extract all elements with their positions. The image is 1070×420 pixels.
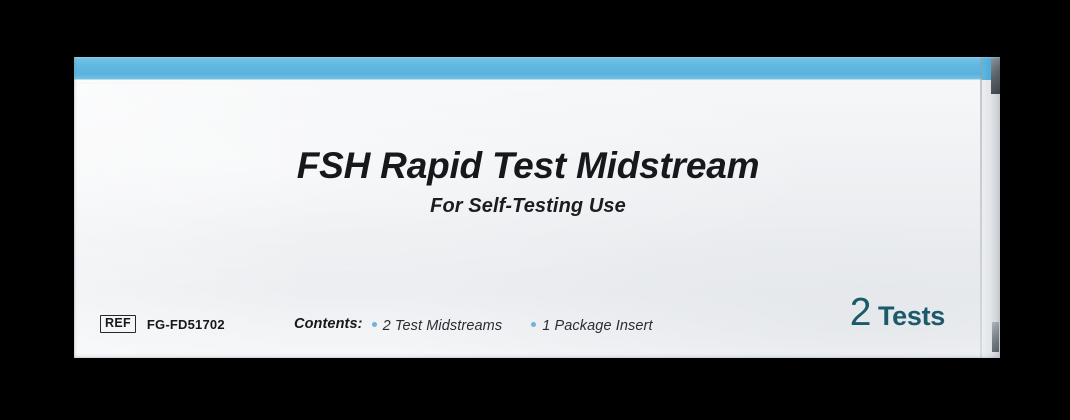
title-block: FSH Rapid Test Midstream For Self-Testin… — [74, 147, 982, 218]
tests-count-badge: 2 Tests — [850, 293, 945, 332]
product-title: FSH Rapid Test Midstream — [74, 147, 982, 186]
contents-item: 1 Package Insert — [531, 318, 652, 334]
tests-count-word: Tests — [878, 303, 945, 330]
tests-count-number: 2 — [850, 293, 871, 332]
stripe-hairline — [74, 82, 982, 84]
reference-group: REF FG-FD51702 — [100, 315, 225, 333]
package-bottom-row: REF FG-FD51702 Contents: 2 Test Midstrea… — [74, 278, 982, 358]
contents-label: Contents: — [294, 316, 363, 332]
contents-item-label: 1 Package Insert — [542, 318, 652, 334]
contents-item: 2 Test Midstreams — [372, 318, 503, 334]
top-flap-notch — [991, 58, 1000, 94]
ref-symbol-badge: REF — [100, 315, 136, 333]
bullet-dot-icon — [372, 322, 377, 327]
package-side-panel — [982, 57, 1000, 358]
bullet-dot-icon — [531, 322, 536, 327]
package-front-panel: FSH Rapid Test Midstream For Self-Testin… — [74, 57, 982, 358]
side-panel-body — [982, 80, 1000, 358]
contents-group: Contents: 2 Test Midstreams 1 Package In… — [294, 316, 653, 334]
package-fold-crease — [980, 57, 982, 358]
product-package: FSH Rapid Test Midstream For Self-Testin… — [74, 57, 1000, 358]
bottom-flap-notch — [992, 322, 999, 352]
photo-scene: FSH Rapid Test Midstream For Self-Testin… — [0, 0, 1070, 420]
product-subtitle: For Self-Testing Use — [74, 195, 982, 218]
contents-item-label: 2 Test Midstreams — [383, 318, 503, 334]
top-blue-stripe — [74, 57, 982, 80]
reference-code: FG-FD51702 — [147, 317, 225, 332]
